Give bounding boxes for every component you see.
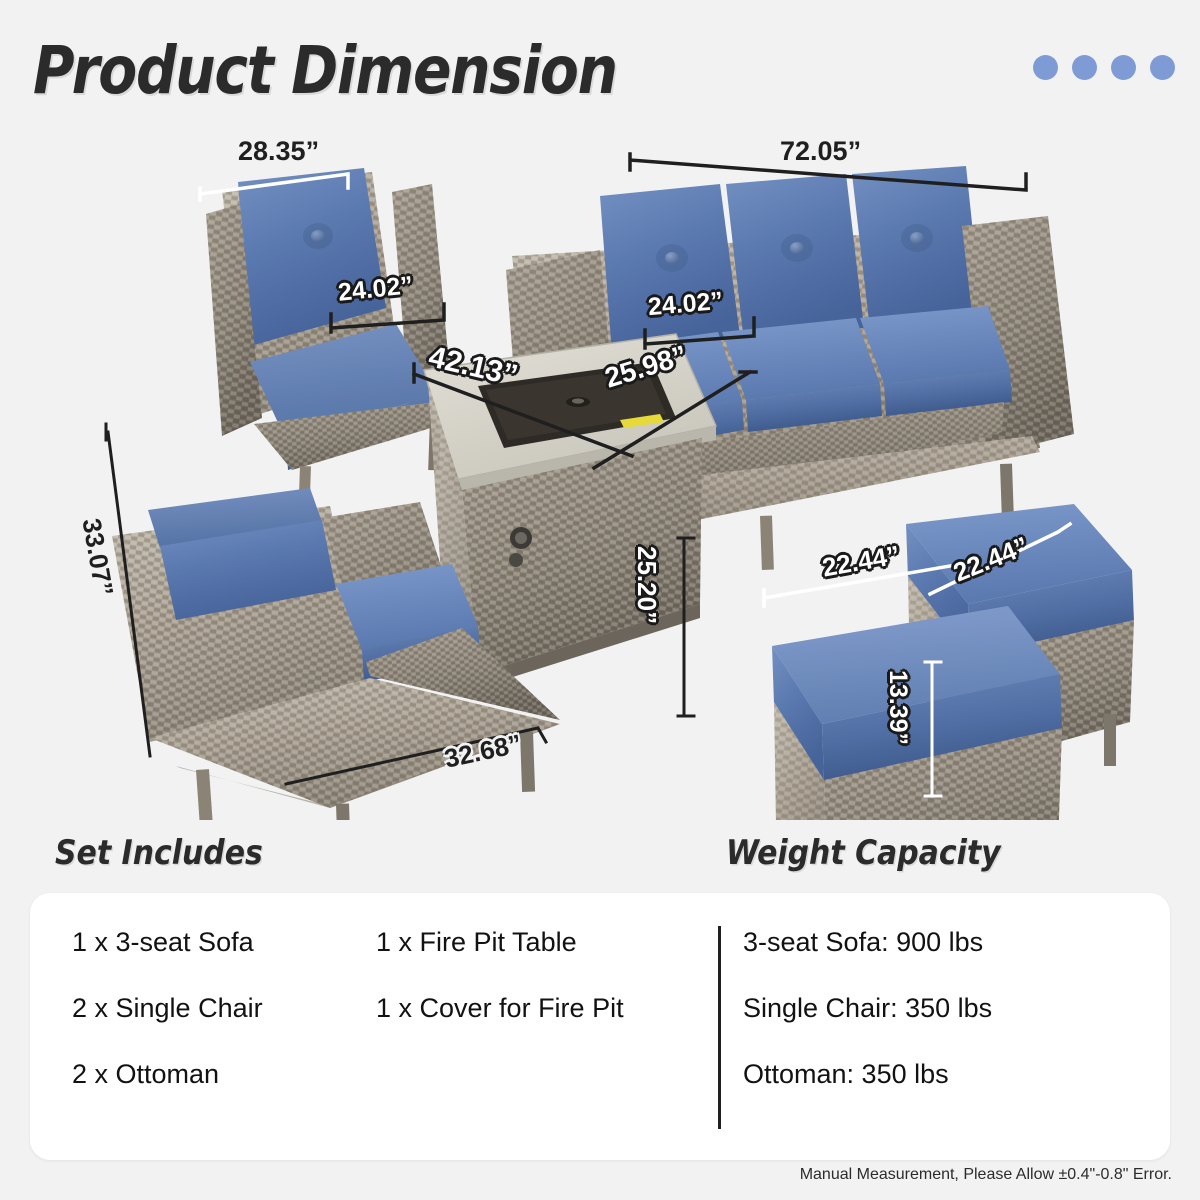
set-includes-heading: Set Includes (55, 833, 263, 873)
header: Product Dimension (0, 0, 1200, 120)
bracket-chair-width (196, 166, 356, 206)
weight-capacity-heading: Weight Capacity (726, 833, 1001, 873)
dimension-label-sofa-width: 72.05” (780, 136, 861, 167)
single-chair-back (206, 168, 452, 524)
set-includes-column-right: 1 x Fire Pit Table 1 x Cover for Fire Pi… (376, 929, 685, 1160)
set-includes-list: 1 x 3-seat Sofa 2 x Single Chair 2 x Ott… (30, 893, 685, 1160)
dimension-label-firepit-height: 25.20” (631, 546, 662, 624)
info-card: 1 x 3-seat Sofa 2 x Single Chair 2 x Ott… (30, 893, 1170, 1160)
column-divider (718, 926, 721, 1129)
product-illustration: 28.35” 72.05” 24.02” 24.02” 42.13” 25.98… (0, 118, 1200, 820)
dot-indicator (1111, 55, 1136, 80)
list-item: 2 x Ottoman (72, 1061, 376, 1127)
dimension-label-ottoman-height: 13.39” (883, 670, 912, 745)
list-item: 2 x Single Chair (72, 995, 376, 1061)
bracket-ottoman-height (922, 658, 948, 800)
list-item: 1 x 3-seat Sofa (72, 929, 376, 995)
dimension-label-chair-width: 28.35” (238, 136, 319, 167)
list-item: 3-seat Sofa: 900 lbs (743, 929, 992, 995)
dot-indicator (1150, 55, 1175, 80)
bracket-firepit-height (676, 536, 702, 720)
list-item: 1 x Fire Pit Table (376, 929, 685, 995)
dot-indicator (1033, 55, 1058, 80)
dot-indicator (1072, 55, 1097, 80)
set-includes-column-left: 1 x 3-seat Sofa 2 x Single Chair 2 x Ott… (72, 929, 376, 1160)
page-title: Product Dimension (33, 32, 617, 109)
weight-capacity-list: 3-seat Sofa: 900 lbs Single Chair: 350 l… (743, 893, 992, 1160)
list-item: 1 x Cover for Fire Pit (376, 995, 685, 1061)
bracket-chair-height (100, 420, 160, 770)
list-item: Ottoman: 350 lbs (743, 1061, 992, 1127)
list-item: Single Chair: 350 lbs (743, 995, 992, 1061)
dot-indicator-group (1033, 55, 1175, 80)
ottoman-front (772, 606, 1062, 820)
footer-disclaimer: Manual Measurement, Please Allow ±0.4"-0… (800, 1166, 1172, 1184)
